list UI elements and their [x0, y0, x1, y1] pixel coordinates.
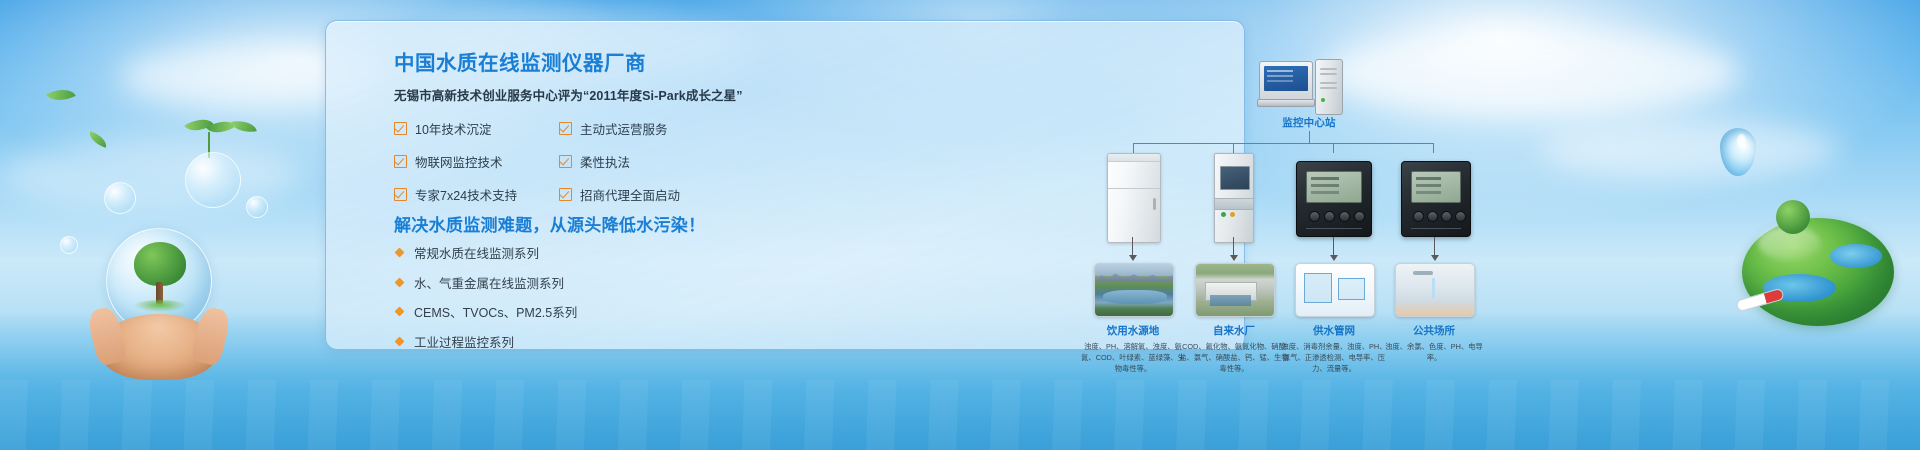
scenario-desc: COD、氟化物、氨氮化物、硝酸盐、氯气、硝酸盐、钙、锰、生物毒性等。 — [1179, 342, 1289, 375]
feature-label: 物联网监控技术 — [415, 152, 503, 171]
diamond-bullet-icon — [395, 248, 405, 258]
diamond-bullet-icon — [395, 336, 405, 346]
bubble-decor — [60, 236, 78, 254]
feature-label: 招商代理全面启动 — [580, 185, 680, 204]
series-label: CEMS、TVOCs、PM2.5系列 — [414, 302, 577, 321]
bubble-decor — [104, 182, 136, 214]
list-item: 水、气重金属在线监测系列 — [396, 273, 577, 292]
monitoring-center-server — [1259, 59, 1359, 117]
scenario-caption: 公共场所 浊度、余氯、色度、PH、电导率。 — [1379, 323, 1489, 364]
page-subtitle: 无锡市高新技术创业服务中心评为“2011年度Si-Park成长之星” — [394, 85, 764, 104]
checkbox-icon — [394, 155, 407, 168]
connector-line — [1309, 131, 1310, 143]
open-palms-icon — [100, 314, 218, 380]
scenario-title: 自来水厂 — [1179, 323, 1289, 338]
water-monitoring-banner: 中国水质在线监测仪器厂商 无锡市高新技术创业服务中心评为“2011年度Si-Pa… — [0, 0, 1920, 450]
scenario-title: 公共场所 — [1379, 323, 1489, 338]
river-photo — [1094, 263, 1174, 317]
feature-item: 招商代理全面启动 — [559, 185, 724, 204]
white-cabinet-analyzer — [1107, 153, 1161, 243]
keyboard-icon — [1257, 99, 1315, 107]
diamond-bullet-icon — [395, 277, 405, 287]
feature-label: 柔性执法 — [580, 152, 630, 171]
globe-tree-icon — [1776, 200, 1810, 234]
down-arrow-icon — [1430, 237, 1439, 261]
black-controller-small — [1401, 161, 1471, 237]
checkbox-icon — [394, 188, 407, 201]
tree-foliage-icon — [134, 242, 186, 286]
feature-item: 柔性执法 — [559, 152, 724, 171]
feature-item: 10年技术沉淀 — [394, 119, 559, 138]
series-label: 常规水质在线监测系列 — [414, 243, 539, 262]
treatment-plant-photo — [1195, 263, 1275, 317]
scenario-caption: 自来水厂 COD、氟化物、氨氮化物、硝酸盐、氯气、硝酸盐、钙、锰、生物毒性等。 — [1179, 323, 1289, 375]
list-item: 工业过程监控系列 — [396, 332, 577, 351]
sprout-leaf-icon — [206, 114, 236, 139]
feature-checklist: 10年技术沉淀 主动式运营服务 物联网监控技术 柔性执法 专家7x24技术支持 … — [394, 119, 724, 204]
water-sheen-decor — [0, 380, 1920, 450]
bubble-decor — [246, 196, 268, 218]
system-architecture-diagram: 监控中心站 — [1081, 41, 1541, 361]
feature-item: 主动式运营服务 — [559, 119, 724, 138]
down-arrow-icon — [1128, 237, 1137, 261]
scenario-title: 供水管网 — [1279, 323, 1389, 338]
connector-bus-line — [1133, 143, 1433, 144]
feature-label: 专家7x24技术支持 — [415, 185, 517, 204]
checkbox-icon — [394, 122, 407, 135]
feature-label: 10年技术沉淀 — [415, 119, 491, 138]
feature-item: 专家7x24技术支持 — [394, 185, 559, 204]
checkbox-icon — [559, 155, 572, 168]
checkbox-icon — [559, 188, 572, 201]
monitoring-center-label: 监控中心站 — [1219, 115, 1399, 130]
scenario-desc: 浊度、PH、溶解氧、浊度、氨氮、COD、叶绿素、蓝绿藻、生物毒性等。 — [1078, 342, 1188, 375]
scenario-desc: 浊度、余氯、色度、PH、电导率。 — [1379, 342, 1489, 364]
down-arrow-icon — [1229, 237, 1238, 261]
scenario-photo-row — [1081, 263, 1541, 319]
list-item: 常规水质在线监测系列 — [396, 243, 577, 262]
scenario-title: 饮用水源地 — [1078, 323, 1188, 338]
feature-label: 主动式运营服务 — [580, 119, 668, 138]
scenario-caption: 饮用水源地 浊度、PH、溶解氧、浊度、氨氮、COD、叶绿素、蓝绿藻、生物毒性等。 — [1078, 323, 1188, 375]
bubble-decor — [185, 152, 241, 208]
tree-ground-icon — [134, 300, 186, 312]
cloud-decor — [1540, 120, 1840, 180]
product-series-list: 常规水质在线监测系列 水、气重金属在线监测系列 CEMS、TVOCs、PM2.5… — [396, 243, 577, 361]
black-controller-large — [1296, 161, 1372, 237]
device-row — [1081, 145, 1541, 245]
card-text-column: 中国水质在线监测仪器厂商 无锡市高新技术创业服务中心评为“2011年度Si-Pa… — [394, 46, 764, 104]
monitor-screen-icon — [1264, 66, 1308, 91]
server-tower-icon — [1315, 59, 1343, 115]
series-label: 工业过程监控系列 — [414, 332, 514, 351]
series-label: 水、气重金属在线监测系列 — [414, 273, 564, 292]
list-item: CEMS、TVOCs、PM2.5系列 — [396, 302, 577, 321]
feature-item: 物联网监控技术 — [394, 152, 559, 171]
tap-water-photo — [1395, 263, 1475, 317]
checkbox-icon — [559, 122, 572, 135]
hands-holding-tree-illustration — [78, 228, 268, 388]
computer-monitor-icon — [1259, 61, 1313, 101]
diamond-bullet-icon — [395, 307, 405, 317]
steel-cabinet-analyzer — [1214, 153, 1254, 243]
content-card: 中国水质在线监测仪器厂商 无锡市高新技术创业服务中心评为“2011年度Si-Pa… — [325, 20, 1245, 350]
section-title: 解决水质监测难题，从源头降低水污染！ — [394, 211, 705, 236]
scenario-caption: 供水管网 浊度、消毒剂余量、浊度、PH、氯气、正渗透检测、电导率、压力、流量等。 — [1279, 323, 1389, 375]
page-title: 中国水质在线监测仪器厂商 — [394, 46, 764, 76]
green-earth-globe-illustration — [1742, 218, 1894, 338]
down-arrow-icon — [1329, 237, 1338, 261]
pipe-network-photo — [1295, 263, 1375, 317]
scenario-desc: 浊度、消毒剂余量、浊度、PH、氯气、正渗透检测、电导率、压力、流量等。 — [1279, 342, 1389, 375]
floating-leaf-icon — [46, 83, 75, 107]
